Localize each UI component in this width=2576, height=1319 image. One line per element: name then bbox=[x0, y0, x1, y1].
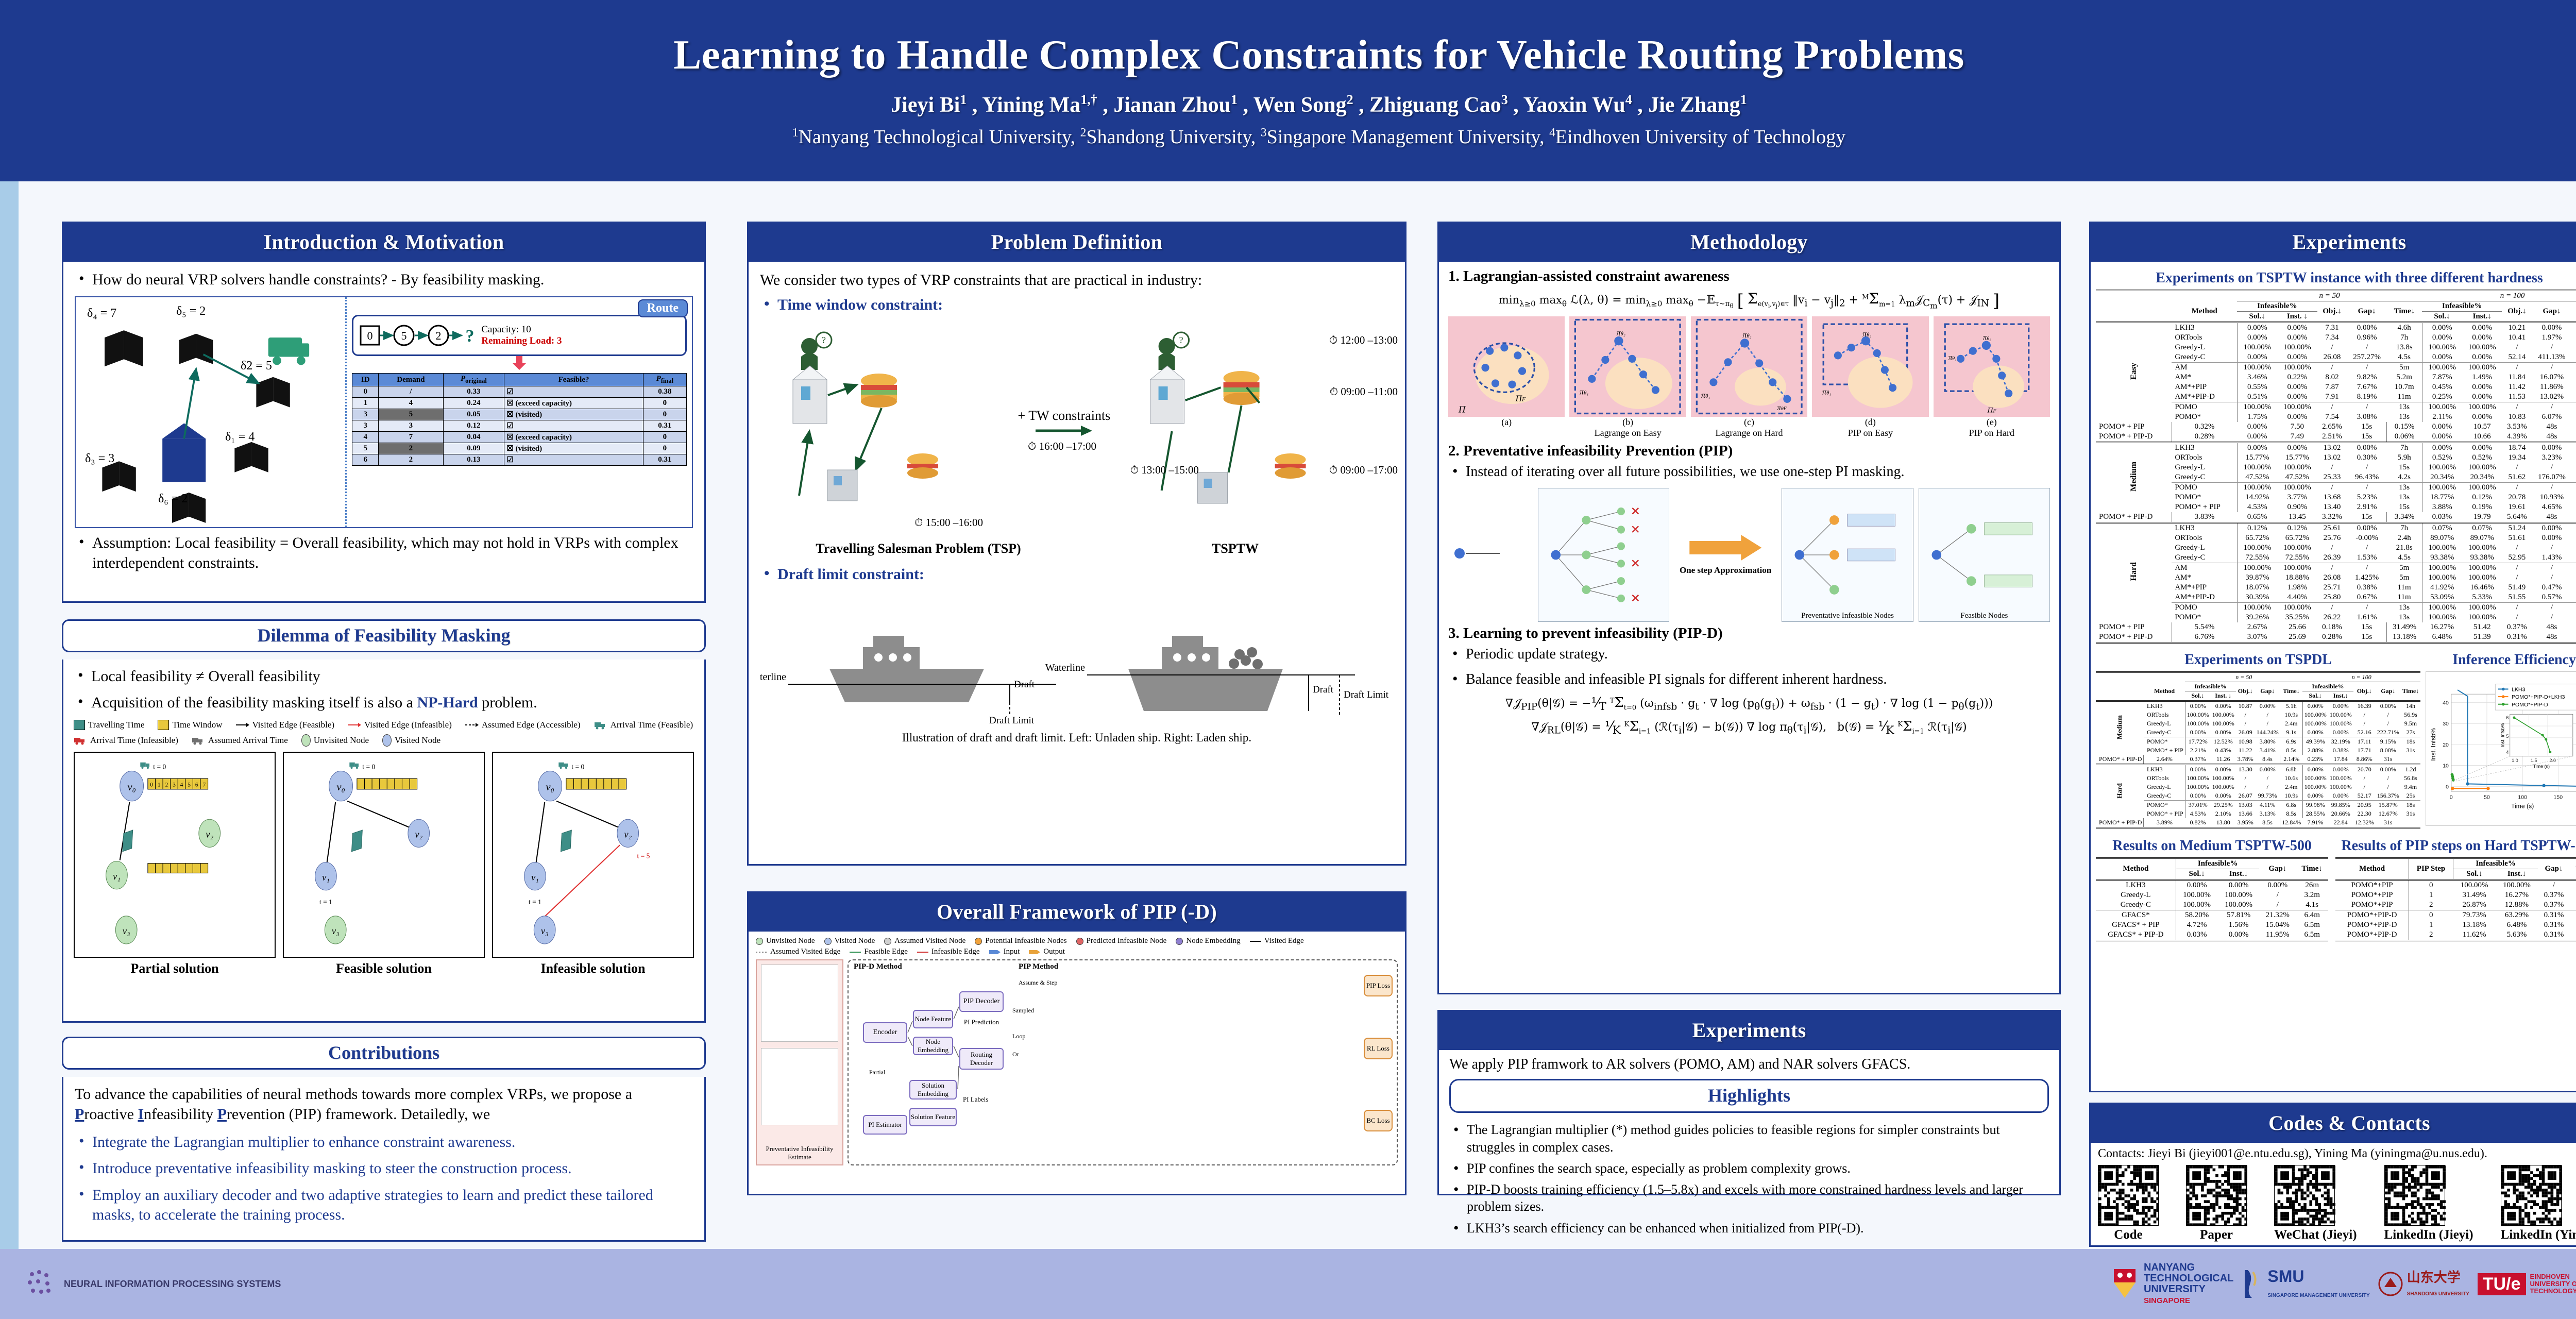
table-cell: POMO* bbox=[2172, 613, 2237, 622]
table-cell: 37.01% bbox=[2185, 801, 2211, 810]
table-cell: 9.5m bbox=[2401, 719, 2420, 728]
table-header-row: ID Demand Poriginal Feasible? Pfinal bbox=[352, 374, 687, 386]
panel-methodology: Methodology 1. Lagrangian-assisted const… bbox=[1437, 222, 2061, 994]
table-cell: 19.61 bbox=[2502, 502, 2532, 512]
subfig-d: πθ₂ πθ₁ bbox=[1812, 316, 1928, 417]
table-cell: 15s bbox=[2347, 512, 2386, 522]
table-row: Greedy-L100.00%100.00%/3.2m bbox=[2096, 890, 2328, 900]
table-cell: 12s bbox=[2572, 352, 2576, 362]
solution-diagrams: t = 0 v₀ 01 23 bbox=[74, 752, 694, 958]
table-cell: 7.49 bbox=[2277, 432, 2317, 442]
svg-text:πθ₁: πθ₁ bbox=[1948, 353, 1956, 362]
table-cell: 18.77% bbox=[2422, 493, 2462, 502]
table-cell: 8.5s bbox=[2280, 746, 2303, 755]
logo-row-universities: NANYANGTECHNOLOGICALUNIVERSITYSINGAPORE … bbox=[2110, 1262, 2576, 1306]
logo-smu: SMUSINGAPORE MANAGEMENT UNIVERSITY bbox=[2242, 1268, 2369, 1300]
constraint-time-window: Time window constraint: bbox=[760, 295, 1394, 315]
table-cell: Greedy-C bbox=[2144, 791, 2185, 800]
table-cell: 25.69 bbox=[2277, 632, 2317, 642]
table-cell: 15s bbox=[2347, 632, 2386, 642]
subfig-e: πθ₂ πθ₁ ΠF bbox=[1934, 316, 2050, 417]
table-cell: 0.00% bbox=[2462, 382, 2502, 392]
table-cell: 5.9h bbox=[2387, 453, 2422, 463]
table-cell: AM bbox=[2172, 363, 2237, 373]
svg-text:?: ? bbox=[1179, 335, 1183, 345]
table-cell: 13.02 bbox=[2317, 453, 2347, 463]
table-cell: 3.80% bbox=[2255, 737, 2280, 747]
panel-title-problem-definition: Problem Definition bbox=[749, 223, 1405, 262]
qr-code-wechat[interactable]: WeChat (Jieyi) bbox=[2274, 1165, 2357, 1242]
cell-p-final: 0.31 bbox=[643, 454, 686, 466]
cell-demand: 2 bbox=[379, 443, 443, 454]
contributions-lead: To advance the capabilities of neural me… bbox=[75, 1084, 693, 1124]
table-cell: / bbox=[2532, 463, 2571, 472]
contribution-item-1: Integrate the Lagrangian multiplier to e… bbox=[75, 1132, 693, 1152]
table-cell: 100.00% bbox=[2237, 363, 2277, 373]
diagram-feasible-solution: t = 0 v₀ bbox=[283, 752, 485, 958]
table-cell: 51.49 bbox=[2502, 583, 2532, 593]
table-cell: Greedy-C bbox=[2172, 472, 2237, 482]
table-cell: 0.67% bbox=[2347, 593, 2386, 602]
table-cell: 0.55% bbox=[2237, 382, 2277, 392]
cell-demand: / bbox=[379, 386, 443, 398]
table-cell: 0.03% bbox=[2176, 930, 2217, 940]
table-cell: 3.34% bbox=[2387, 512, 2422, 522]
cell-p-original: 0.13 bbox=[443, 454, 504, 466]
table-cell: 156.37% bbox=[2376, 791, 2401, 800]
table-cell: 30.39% bbox=[2237, 593, 2277, 602]
one-step-arrow-icon bbox=[1674, 534, 1777, 562]
svg-text:0: 0 bbox=[2450, 794, 2453, 801]
table-cell: 3.46% bbox=[2237, 373, 2277, 382]
svg-text:1.5: 1.5 bbox=[2531, 758, 2537, 763]
table-cell: 100.00% bbox=[2453, 880, 2496, 891]
svg-text:v₀: v₀ bbox=[336, 781, 345, 793]
contacts-line: Contacts: Jieyi Bi (jieyi001@e.ntu.edu.s… bbox=[2098, 1147, 2576, 1161]
table-cell: 10.6s bbox=[2280, 774, 2303, 783]
table-cell: Greedy-L bbox=[2172, 543, 2237, 553]
table-cell: 5.1h bbox=[2280, 701, 2303, 711]
cell-p-original: 0.04 bbox=[443, 432, 504, 443]
table-cell: 10.41 bbox=[2502, 333, 2532, 343]
method-step-2: 2. Preventative infeasibility Prevention… bbox=[1448, 443, 2050, 460]
table-cell: 0.00% bbox=[2211, 728, 2236, 737]
table-cell: Greedy-C bbox=[2172, 352, 2237, 362]
table-row: POMO*+PIP0100.00%100.00%/21s bbox=[2335, 880, 2576, 891]
table-cell: 51.42 bbox=[2462, 622, 2502, 632]
table-cell: 7h bbox=[2387, 443, 2422, 453]
table-cell: AM*+PIP bbox=[2172, 382, 2237, 392]
svg-text:t = 1: t = 1 bbox=[319, 898, 332, 906]
table-cell: 3.2m bbox=[2296, 890, 2328, 900]
table-cell: 0.43% bbox=[2211, 746, 2236, 755]
table-cell: 100.00% bbox=[2277, 483, 2317, 493]
legend-visited-edge-infeasible: Visited Edge (Infeasible) bbox=[348, 720, 452, 730]
table-cell: 11m bbox=[2387, 593, 2422, 602]
svg-text:Inst. Infsb%: Inst. Infsb% bbox=[2500, 723, 2505, 748]
table-row: GFACS* + PIP4.72%1.56%15.04%6.5m bbox=[2096, 920, 2328, 930]
table-row: Greedy-C0.00%0.00%26.0799.73%10.9s0.00%0… bbox=[2096, 791, 2420, 800]
table-cell: 6.76% bbox=[2172, 632, 2237, 642]
table-cell: 25.80 bbox=[2317, 593, 2347, 602]
table-cell: 100.00% bbox=[2462, 363, 2502, 373]
table-cell: 89.07% bbox=[2462, 533, 2502, 543]
table-cell: 257.27% bbox=[2347, 352, 2386, 362]
table-cell: 15s bbox=[2387, 463, 2422, 472]
table-cell: POMO* bbox=[2144, 801, 2185, 810]
table-cell: 6.07% bbox=[2532, 412, 2571, 422]
author-list: Jieyi Bi1 , Yining Ma1,† , Jianan Zhou1 … bbox=[891, 92, 1747, 117]
qr-code-paper[interactable]: Paper bbox=[2186, 1165, 2247, 1242]
table-cell: LKH3 bbox=[2172, 523, 2237, 534]
subfig-c: πθ₂ πθ₁ πθF bbox=[1691, 316, 1807, 417]
table-cell: 51.55 bbox=[2502, 593, 2532, 602]
table-cell: 0.28% bbox=[2172, 432, 2237, 442]
table-cell: 25s bbox=[2401, 791, 2420, 800]
table-cell: 96.43% bbox=[2347, 472, 2386, 482]
table-cell: Greedy-L bbox=[2096, 890, 2176, 900]
svg-text:0: 0 bbox=[367, 329, 373, 342]
subfig-caption-a: (a) bbox=[1448, 417, 1565, 428]
table-cell: 100.00% bbox=[2277, 363, 2317, 373]
table-cell: 41.92% bbox=[2422, 583, 2462, 593]
table-cell: / bbox=[2317, 463, 2347, 472]
table-cell: 32.19% bbox=[2328, 737, 2353, 747]
table-cell: 0.00% bbox=[2211, 791, 2236, 800]
figure-ships: Waterline Draft Draft Limit bbox=[760, 591, 1394, 728]
label-delta4: δ₄ = 7 bbox=[87, 307, 116, 320]
panel-introduction: Introduction & Motivation How do neural … bbox=[62, 222, 706, 603]
table-cell: / bbox=[2353, 711, 2376, 719]
table-cell: 19.79 bbox=[2462, 512, 2502, 522]
table-cell: 6.48% bbox=[2422, 632, 2462, 642]
cell-feasible: ☒ (exceed capacity) bbox=[504, 398, 643, 409]
table-cell: 2.91% bbox=[2347, 502, 2386, 512]
legend-lkh3: LKH3 bbox=[2512, 687, 2526, 693]
table-cell: 39.87% bbox=[2237, 573, 2277, 583]
table-cell: 0.00% bbox=[2302, 728, 2328, 737]
demand-graph-svg bbox=[76, 297, 345, 527]
table-cell: 11.95% bbox=[2259, 930, 2296, 940]
svg-text:v₂: v₂ bbox=[624, 829, 632, 840]
table-cell: 0.00% bbox=[2347, 323, 2386, 333]
table-cell: 48s bbox=[2532, 432, 2571, 442]
table-cell: 21.8s bbox=[2387, 543, 2422, 553]
table-cell: 4.5s bbox=[2387, 352, 2422, 362]
svg-text:t = 5: t = 5 bbox=[637, 852, 650, 859]
table-cell: 0.12% bbox=[2277, 523, 2317, 534]
method-step-3-bullet-2: Balance feasible and infeasible PI signa… bbox=[1448, 670, 2050, 689]
table-cell: 0.00% bbox=[2185, 791, 2211, 800]
table-cell: 12.84% bbox=[2280, 818, 2303, 827]
table-cell: 0.37% bbox=[2538, 890, 2570, 900]
table-cell: 0.00% bbox=[2218, 880, 2260, 891]
table-cell: / bbox=[2317, 483, 2347, 493]
svg-text:Draft: Draft bbox=[1313, 684, 1334, 695]
svg-text:1: 1 bbox=[158, 782, 161, 788]
table-cell: POMO* + PIP-D bbox=[2096, 512, 2172, 522]
table-cell: ORTools bbox=[2172, 333, 2237, 343]
svg-text:v₂: v₂ bbox=[415, 829, 422, 840]
svg-text:πθ₂: πθ₂ bbox=[1742, 330, 1751, 340]
table-cell: 11.42 bbox=[2502, 382, 2532, 392]
table-cell: 10.8h bbox=[2572, 443, 2576, 453]
table-cell: 8.4s bbox=[2255, 755, 2280, 764]
table-cell: 13.80 bbox=[2211, 818, 2236, 827]
truck-teal-icon bbox=[594, 720, 607, 730]
table-cell: / bbox=[2317, 343, 2347, 352]
table-cell: 14h bbox=[2401, 701, 2420, 711]
svg-text:100: 100 bbox=[2518, 794, 2528, 801]
table-cell: 1.3m bbox=[2572, 543, 2576, 553]
time-window-2: ⏱ 09:00 –11:00 bbox=[1330, 385, 1398, 398]
arrow-black-icon bbox=[236, 722, 249, 728]
poster-header: Learning to Handle Complex Constraints f… bbox=[0, 0, 2576, 181]
table-cell: 15s bbox=[2387, 502, 2422, 512]
table-cell: 51.39 bbox=[2462, 632, 2502, 642]
table-row: 520.09☒ (visited)0 bbox=[352, 443, 687, 454]
table-row: 330.12☑ 0.31 bbox=[352, 420, 687, 432]
svg-text:4: 4 bbox=[2506, 750, 2509, 755]
truck-red-icon bbox=[74, 736, 87, 745]
table-cell: 21m bbox=[2572, 373, 2576, 382]
fw-legend-infeasible-edge: Infeasible Edge bbox=[917, 948, 980, 956]
table-cell: 17.11 bbox=[2353, 737, 2376, 747]
cell-feasible: ☑ bbox=[504, 454, 643, 466]
table-cell: 0.00% bbox=[2237, 422, 2277, 432]
table-cell: 0.12% bbox=[2462, 493, 2502, 502]
th-feasible: Feasible? bbox=[504, 374, 643, 386]
table-cell: ORTools bbox=[2172, 533, 2237, 543]
affiliation-list: 1Nanyang Technological University, 2Shan… bbox=[792, 126, 1846, 148]
table-cell: 0.00% bbox=[2462, 392, 2502, 402]
table-cell: 6.48% bbox=[2496, 920, 2538, 930]
table-cell: 22.84 bbox=[2328, 818, 2353, 827]
table-cell: ORTools bbox=[2144, 774, 2185, 783]
table-cell: 0.37% bbox=[2538, 900, 2570, 910]
table-cell: 2.4m bbox=[2280, 719, 2303, 728]
table-cell: / bbox=[2259, 900, 2296, 910]
table-cell: 51.24 bbox=[2502, 523, 2532, 534]
svg-text:1.0: 1.0 bbox=[2512, 758, 2518, 763]
table-cell: 1h bbox=[2572, 392, 2576, 402]
fw-legend-unvisited-node: Unvisited Node bbox=[756, 937, 815, 945]
table-cell: 1h bbox=[2572, 382, 2576, 392]
table-cell: / bbox=[2347, 603, 2386, 613]
table-row: Greedy-C0.00%0.00%26.09144.24%9.1s0.00%0… bbox=[2096, 728, 2420, 737]
table-cell: 48s bbox=[2532, 512, 2571, 522]
table-cell: AM bbox=[2172, 563, 2237, 573]
table-row: EasyLKH30.00%0.00%7.310.00%4.6h0.00%0.00… bbox=[2096, 323, 2576, 333]
table-cell: POMO* + PIP bbox=[2096, 622, 2172, 632]
table-cell: 20.66% bbox=[2328, 809, 2353, 818]
table-cell: 26.08 bbox=[2317, 573, 2347, 583]
table-cell: 0.00% bbox=[2185, 765, 2211, 774]
table-cell: 100.00% bbox=[2422, 463, 2462, 472]
table-cell: 3.77% bbox=[2277, 493, 2317, 502]
table-cell: 100.00% bbox=[2462, 613, 2502, 622]
np-hard-emphasis: NP-Hard bbox=[417, 694, 478, 711]
table-cell: 0.00% bbox=[2185, 728, 2211, 737]
svg-text:2: 2 bbox=[165, 782, 168, 788]
table-cell: / bbox=[2502, 613, 2532, 622]
caption-ship-figure: Illustration of draft and draft limit. L… bbox=[760, 731, 1394, 745]
table-cell: 8.86% bbox=[2353, 755, 2376, 764]
table-cell: 19.34 bbox=[2502, 453, 2532, 463]
table-cell: 1.43% bbox=[2532, 553, 2571, 563]
table-cell: 5.64% bbox=[2502, 512, 2532, 522]
table-cell: 20.70 bbox=[2353, 765, 2376, 774]
tsptw-table-title: Experiments on TSPTW instance with three… bbox=[2096, 270, 2576, 286]
table-cell: 0.28% bbox=[2317, 632, 2347, 642]
table-cell: 13.18% bbox=[2387, 632, 2422, 642]
table-cell: Greedy-C bbox=[2144, 728, 2185, 737]
table-cell: 0.00% bbox=[2277, 412, 2317, 422]
table-cell: 8.5h bbox=[2572, 323, 2576, 333]
table-cell: 13.02 bbox=[2317, 443, 2347, 453]
table-cell: 20.34% bbox=[2462, 472, 2502, 482]
svg-text:πθF: πθF bbox=[1777, 403, 1787, 412]
panel-title-methodology: Methodology bbox=[1439, 223, 2059, 262]
table-cell: 8.5s bbox=[2255, 818, 2280, 827]
table-cell: 0.37% bbox=[2502, 622, 2532, 632]
caption-feasible-nodes: Feasible Nodes bbox=[1919, 612, 2049, 620]
legend-travelling-time: Travelling Time bbox=[74, 720, 144, 730]
table-cell: LKH3 bbox=[2096, 880, 2176, 891]
table-cell: 100.00% bbox=[2302, 783, 2328, 791]
table-cell: / bbox=[2353, 719, 2376, 728]
cell-feasible: ☒ (visited) bbox=[504, 409, 643, 420]
table-cell: 31s bbox=[2376, 818, 2401, 827]
table-cell: 2.10% bbox=[2211, 809, 2236, 818]
table-cell: 6.5m bbox=[2296, 930, 2328, 940]
svg-text:v₃: v₃ bbox=[123, 926, 130, 937]
table-cell: 0.90% bbox=[2277, 502, 2317, 512]
label-delta5: δ₅ = 2 bbox=[176, 305, 206, 318]
table-cell: 11.86% bbox=[2532, 382, 2571, 392]
table-cell: / bbox=[2347, 543, 2386, 553]
table-cell: 2.88% bbox=[2302, 746, 2328, 755]
table-cell: / bbox=[2502, 483, 2532, 493]
table-cell: 15.04% bbox=[2259, 920, 2296, 930]
table-cell: 2.51% bbox=[2317, 432, 2347, 442]
table-cell: 22.30 bbox=[2353, 809, 2376, 818]
table-cell: 51.61 bbox=[2502, 533, 2532, 543]
table-row: POMO*+PIP131.49%16.27%0.37%48s bbox=[2335, 890, 2576, 900]
cell-demand: 2 bbox=[379, 454, 443, 466]
table-cell: 5m bbox=[2387, 573, 2422, 583]
svg-text:v₃: v₃ bbox=[541, 926, 549, 937]
contributions-heading: Contributions bbox=[62, 1037, 706, 1070]
table-cell: 0.31% bbox=[2538, 910, 2570, 921]
legend-visited-edge-feasible: Visited Edge (Feasible) bbox=[236, 720, 335, 730]
cell-p-original: 0.12 bbox=[443, 420, 504, 432]
qr-code-row: Code Paper WeChat (Jieyi) LinkedIn (Jiey… bbox=[2098, 1165, 2576, 1242]
table-cell: 11m bbox=[2387, 583, 2422, 593]
table-cell: 0.00% bbox=[2462, 352, 2502, 362]
tw-constraint-arrow: + TW constraints bbox=[1013, 408, 1115, 442]
table-cell: 15.77% bbox=[2277, 453, 2317, 463]
table-cell: 31s bbox=[2376, 755, 2401, 764]
table-cell: POMO*+PIP bbox=[2335, 890, 2409, 900]
svg-text:Time (s): Time (s) bbox=[2533, 764, 2550, 769]
table-cell: POMO* + PIP bbox=[2144, 809, 2185, 818]
cell-demand: 5 bbox=[379, 409, 443, 420]
qr-code-linkedin-yining[interactable]: LinkedIn (Yining) bbox=[2501, 1165, 2576, 1242]
legend-unvisited-node: Unvisited Node bbox=[301, 734, 369, 747]
table-cell: 0.00% bbox=[2302, 765, 2328, 774]
table-cell: / bbox=[2347, 363, 2386, 373]
table-cell: 16.39 bbox=[2353, 701, 2376, 711]
table-cell: / bbox=[2255, 719, 2280, 728]
table-cell: 0.30% bbox=[2347, 453, 2386, 463]
table-cell: 1.4d bbox=[2572, 523, 2576, 534]
table-cell: 48s bbox=[2570, 890, 2576, 900]
equation-pip-gradient: ∇𝒥PIP(θ|𝒢) = −⅟T TΣt=0 (ωinfsb · gt · ∇ … bbox=[1448, 695, 2050, 713]
fw-legend-predicted-infeasible: Predicted Infeasible Node bbox=[1076, 937, 1167, 945]
table-row: Greedy-C100.00%100.00%/4.1s bbox=[2096, 900, 2328, 910]
time-window-4: ⏱ 13:00 –15:00 bbox=[1130, 464, 1199, 477]
fw-legend-node-embedding: Node Embedding bbox=[1176, 937, 1240, 945]
cell-id: 6 bbox=[352, 454, 379, 466]
svg-text:v₃: v₃ bbox=[332, 926, 340, 937]
figure-pi-masking: One step Approximation Preventative Infe… bbox=[1448, 488, 2050, 622]
table-cell: 3.53% bbox=[2502, 422, 2532, 432]
cell-p-final: 0 bbox=[643, 409, 686, 420]
table-cell: Greedy-L bbox=[2144, 783, 2185, 791]
table-cell: / bbox=[2532, 402, 2571, 413]
fw-legend-assumed-visited-node: Assumed Visited Node bbox=[884, 937, 965, 945]
table-cell: 100.00% bbox=[2211, 783, 2236, 791]
table-cell: 100.00% bbox=[2462, 563, 2502, 573]
table-cell: 8.02 bbox=[2317, 373, 2347, 382]
tree-before bbox=[1538, 488, 1669, 622]
qr-code-linkedin-jieyi[interactable]: LinkedIn (Jieyi) bbox=[2384, 1165, 2473, 1242]
table-cell: 4.72% bbox=[2176, 920, 2217, 930]
cell-id: 3 bbox=[352, 409, 379, 420]
table-cell: 0.00% bbox=[2422, 323, 2462, 333]
table-cell: 0.23% bbox=[2302, 755, 2328, 764]
table-cell: 4.65% bbox=[2532, 502, 2571, 512]
table-cell: 100.00% bbox=[2185, 774, 2211, 783]
table-cell: / bbox=[2376, 719, 2401, 728]
svg-text:v₂: v₂ bbox=[206, 829, 213, 840]
table-cell: 52.14 bbox=[2502, 352, 2532, 362]
table-cell: 1 bbox=[2409, 890, 2453, 900]
panel-title-introduction: Introduction & Motivation bbox=[63, 223, 704, 262]
table-row: POMO* + PIP2.21%0.43%11.223.41%8.5s2.88%… bbox=[2096, 746, 2420, 755]
table-cell: 13s bbox=[2387, 483, 2422, 493]
table-cell: 11.26 bbox=[2211, 755, 2236, 764]
highlight-item-3: PIP-D boosts training efficiency (1.5–5.… bbox=[1449, 1181, 2049, 1215]
qr-code-code[interactable]: Code bbox=[2098, 1165, 2159, 1242]
table-cell: 15.87% bbox=[2376, 801, 2401, 810]
table-cell: 0.00% bbox=[2532, 443, 2571, 453]
table-cell: 100.00% bbox=[2422, 363, 2462, 373]
table-cell: / bbox=[2317, 563, 2347, 573]
table-cell: 0.00% bbox=[2422, 333, 2462, 343]
table-cell: 0.00% bbox=[2376, 765, 2401, 774]
table-cell: / bbox=[2347, 463, 2386, 472]
table-cell: 411.13% bbox=[2532, 352, 2571, 362]
table-cell: 12.52% bbox=[2211, 737, 2236, 747]
table-cell: POMO* + PIP bbox=[2096, 422, 2172, 432]
table-cell: AM*+PIP bbox=[2172, 583, 2237, 593]
table-cell: 13.40 bbox=[2317, 502, 2347, 512]
table-cell: / bbox=[2317, 603, 2347, 613]
legend-visited-node: Visited Node bbox=[382, 734, 440, 747]
table-cell: 7.50 bbox=[2277, 422, 2317, 432]
